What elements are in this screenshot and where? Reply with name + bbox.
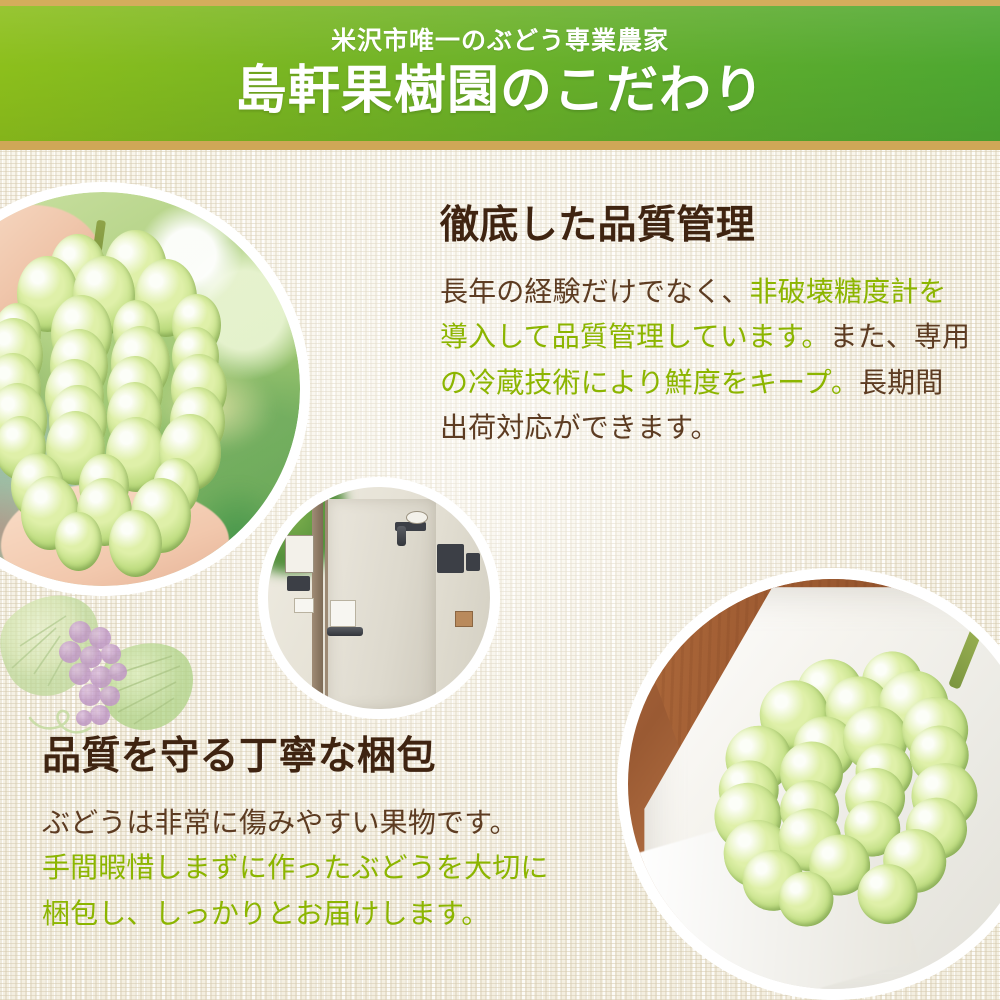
body-line: 手間暇惜しまずに作ったぶどうを大切に bbox=[42, 846, 602, 891]
section-careful-packaging: 品質を守る丁寧な梱包 ぶどうは非常に傷みやすい果物です。 手間暇惜しまずに作った… bbox=[42, 736, 602, 937]
body-line: 出荷対応ができます。 bbox=[440, 406, 980, 451]
body-line: 梱包し、しっかりとお届けします。 bbox=[42, 892, 602, 937]
section-heading: 徹底した品質管理 bbox=[440, 205, 980, 248]
banner-subtitle: 米沢市唯一のぶどう専業農家 bbox=[331, 29, 669, 54]
body-line: 長年の経験だけでなく、非破壊糖度計を bbox=[440, 270, 980, 315]
photo-packaged-grapes bbox=[617, 568, 1000, 1000]
section-body: 長年の経験だけでなく、非破壊糖度計を 導入して品質管理しています。また、専用 の… bbox=[440, 270, 980, 451]
banner-title: 島軒果樹園のこだわり bbox=[235, 64, 765, 120]
packaged-grape-bunch-art bbox=[697, 644, 993, 940]
header-banner: 米沢市唯一のぶどう専業農家 島軒果樹園のこだわり bbox=[0, 0, 1000, 150]
body-line: の冷蔵技術により鮮度をキープ。長期間 bbox=[440, 361, 980, 406]
body-line: 導入して品質管理しています。また、専用 bbox=[440, 315, 980, 360]
section-quality-control: 徹底した品質管理 長年の経験だけでなく、非破壊糖度計を 導入して品質管理していま… bbox=[440, 205, 980, 451]
body-line: ぶどうは非常に傷みやすい果物です。 bbox=[42, 801, 602, 846]
section-body: ぶどうは非常に傷みやすい果物です。 手間暇惜しまずに作ったぶどうを大切に 梱包し… bbox=[42, 801, 602, 937]
photo-hand-holding-grapes bbox=[0, 182, 310, 596]
promo-page: 米沢市唯一のぶどう専業農家 島軒果樹園のこだわり bbox=[0, 0, 1000, 1000]
section-heading: 品質を守る丁寧な梱包 bbox=[42, 736, 602, 779]
photo-cold-storage-room bbox=[258, 477, 500, 719]
